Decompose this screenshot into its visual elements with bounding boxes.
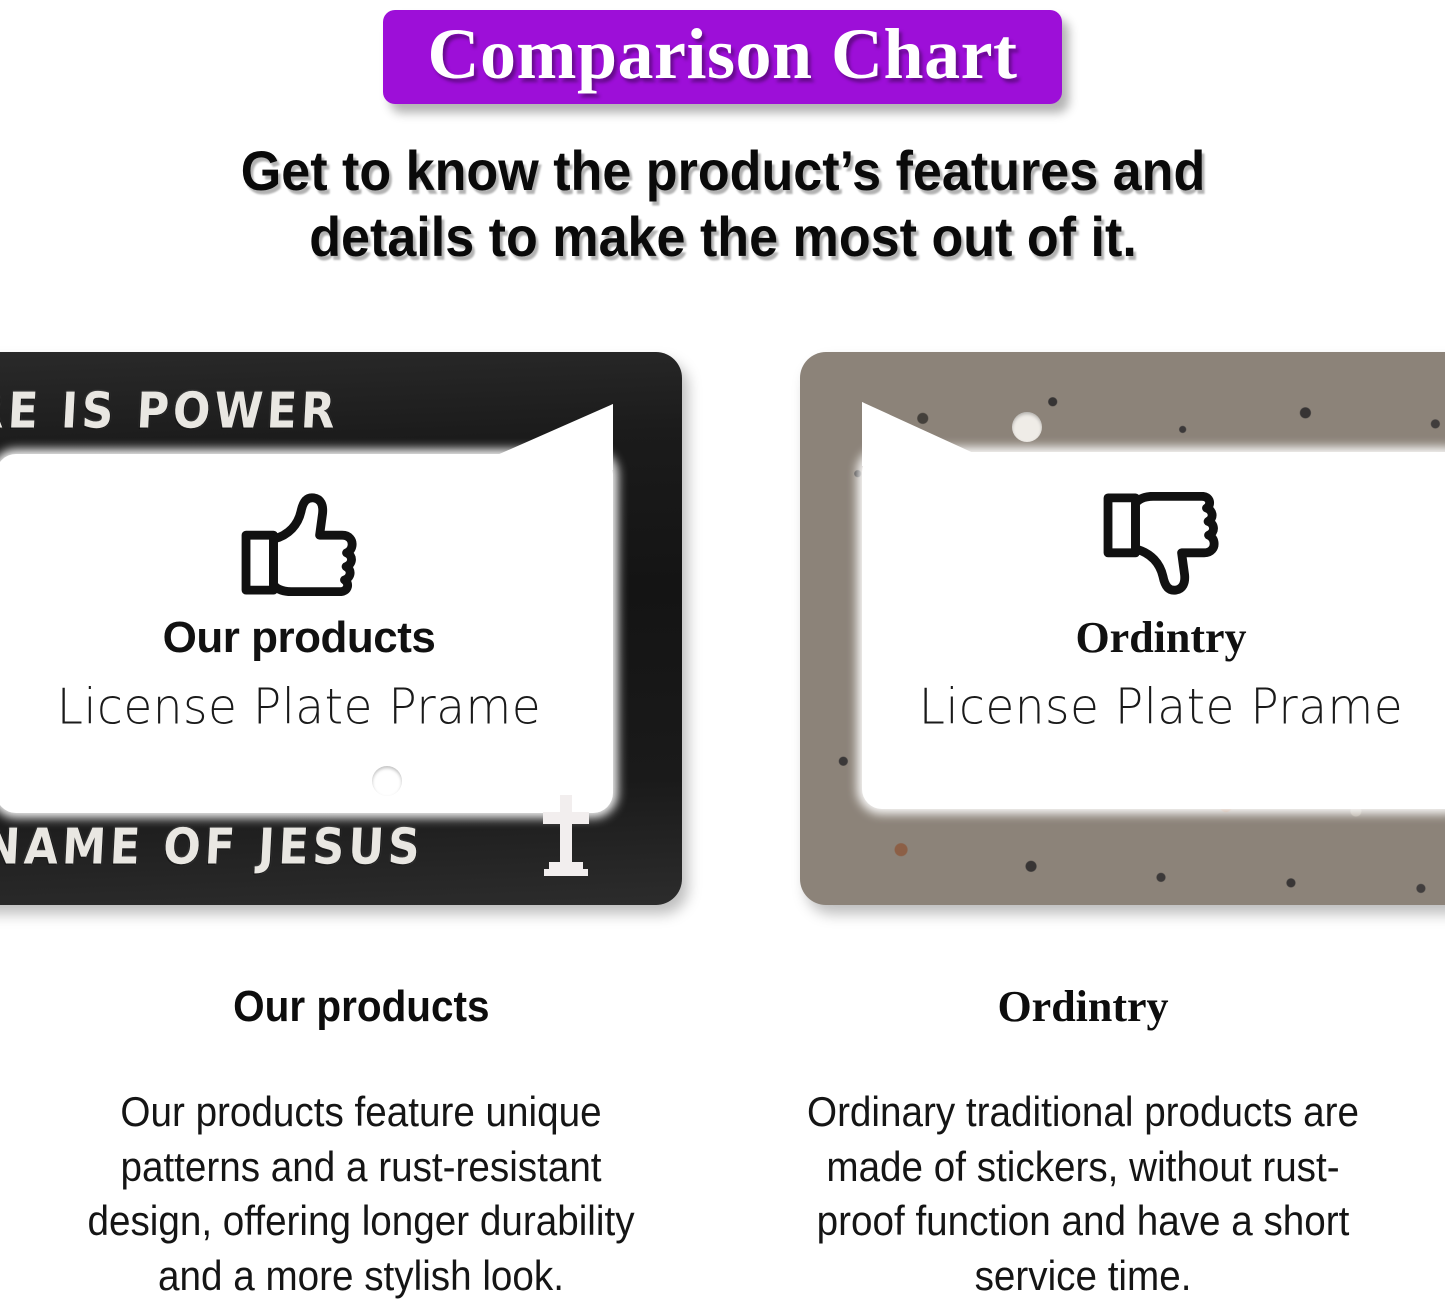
screw-hole-icon xyxy=(372,766,402,796)
title-banner: Comparison Chart xyxy=(383,10,1061,104)
comparison-body: Our products feature unique patterns and… xyxy=(67,1085,656,1303)
ordinary-product-verdict-block: Ordintry License Plate Prame xyxy=(800,492,1445,731)
our-product-frame: ERE IS POWER E NAME OF JESUS Our product… xyxy=(0,352,682,905)
page-header: Comparison Chart Get to know the product… xyxy=(0,0,1445,270)
page-subtitle: Get to know the product’s features and d… xyxy=(165,138,1281,270)
screw-hole-icon xyxy=(1012,412,1042,442)
comparison-heading: Ordintry xyxy=(997,985,1168,1029)
comparison-heading: Our products xyxy=(233,985,489,1029)
comparison-column-ours: Our products Our products feature unique… xyxy=(0,985,722,1303)
comparison-body: Ordinary traditional products are made o… xyxy=(789,1085,1378,1303)
ordinary-product-line: License Plate Prame xyxy=(919,683,1403,732)
page-title: Comparison Chart xyxy=(427,18,1017,90)
our-product-verdict-label: Our products xyxy=(163,616,436,660)
comparison-column-ordinary: Ordintry Ordinary traditional products a… xyxy=(722,985,1444,1303)
plate-top-text: ERE IS POWER xyxy=(0,383,340,440)
ordinary-product-verdict-label: Ordintry xyxy=(1075,616,1246,660)
product-frames-row: ERE IS POWER E NAME OF JESUS Our product… xyxy=(0,352,1445,912)
comparison-text-row: Our products Our products feature unique… xyxy=(0,985,1445,1303)
our-product-verdict-block: Our products License Plate Prame xyxy=(0,492,682,731)
thumbs-up-icon xyxy=(240,492,358,596)
ordinary-product-frame: Ordintry License Plate Prame xyxy=(800,352,1445,905)
our-product-line: License Plate Prame xyxy=(57,683,541,732)
thumbs-down-icon xyxy=(1102,492,1220,596)
cross-icon xyxy=(537,793,595,877)
plate-bottom-text: E NAME OF JESUS xyxy=(0,819,425,876)
